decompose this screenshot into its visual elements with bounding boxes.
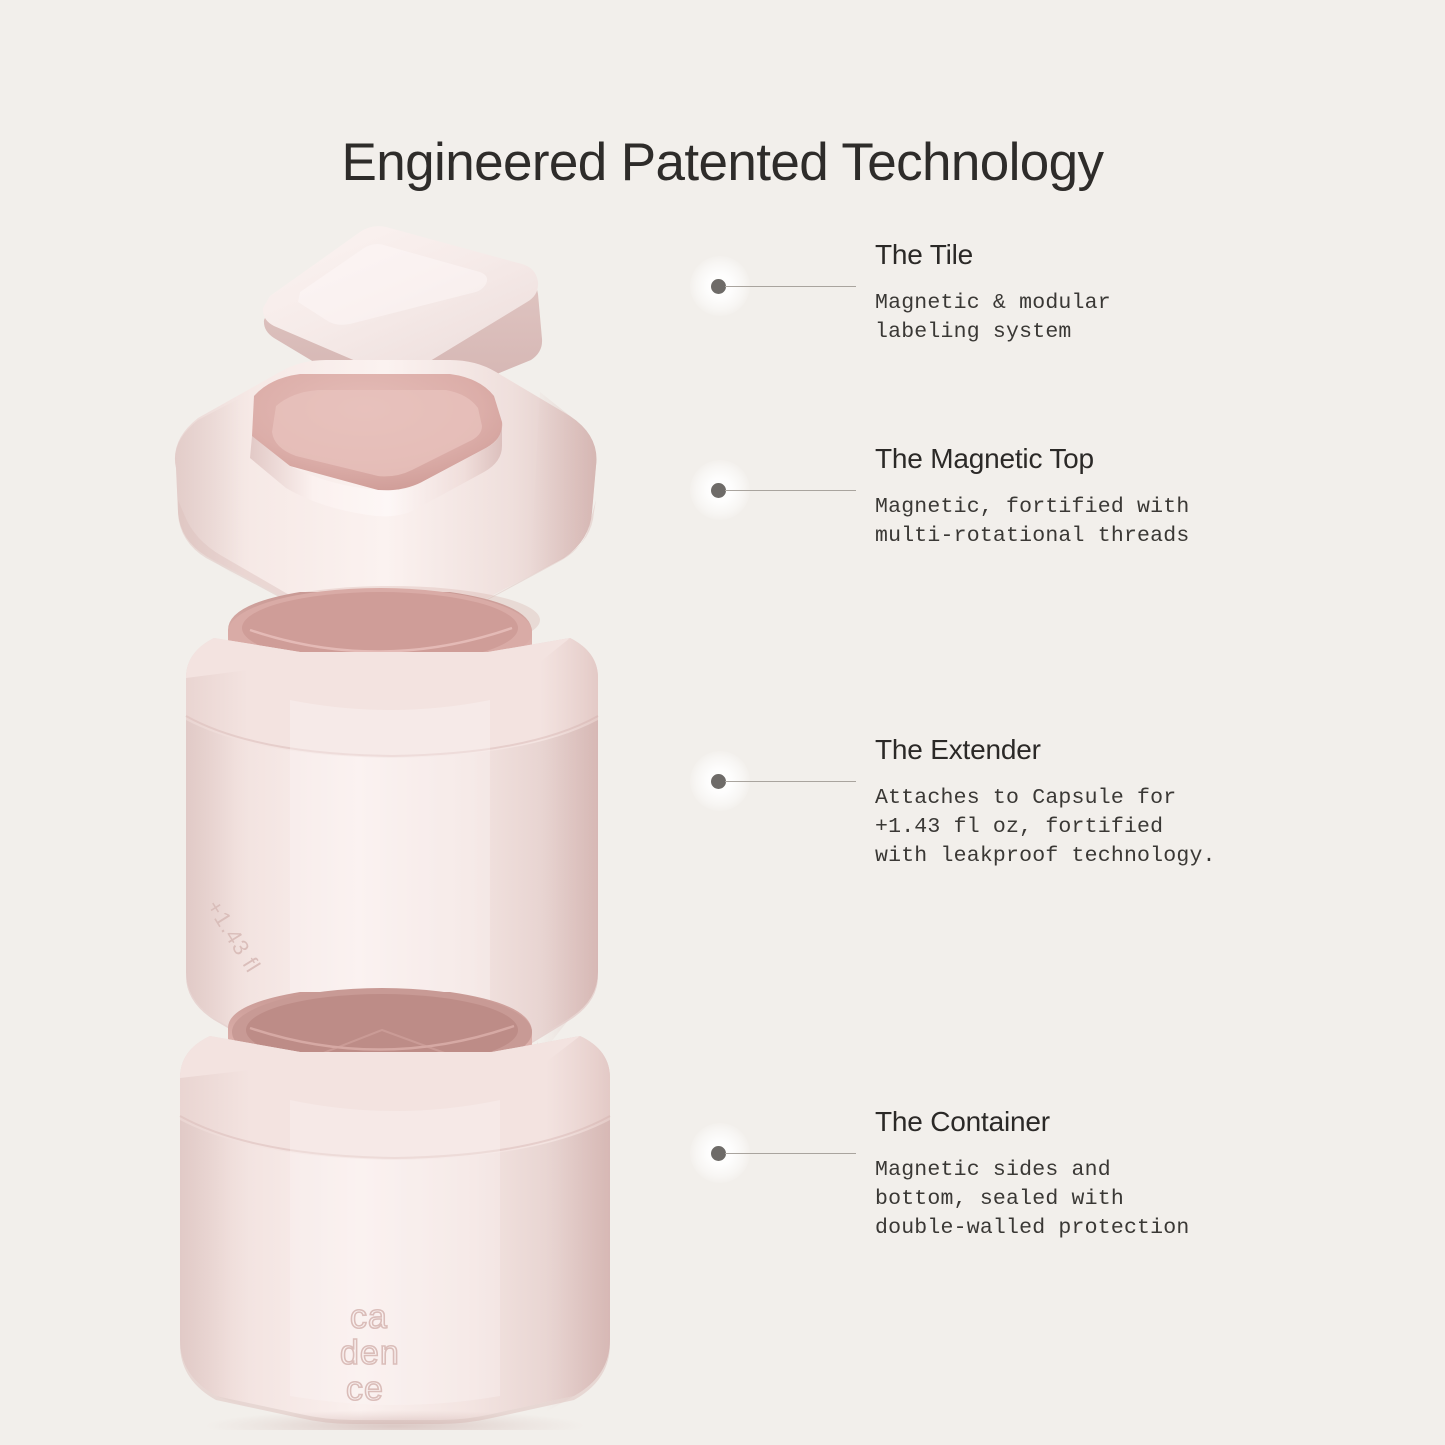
leader-line [725, 1153, 856, 1154]
callout-title: The Extender [875, 732, 1295, 768]
callout-description: Magnetic, fortified with multi-rotationa… [875, 493, 1295, 551]
svg-text:ce: ce [346, 1370, 384, 1408]
callout-title: The Magnetic Top [875, 441, 1295, 477]
callout-title: The Tile [875, 237, 1295, 273]
callout-text: The Container Magnetic sides and bottom,… [875, 1104, 1295, 1243]
page-title: Engineered Patented Technology [0, 132, 1445, 194]
marker-dot-icon [711, 774, 726, 789]
product-illustration: +1.43 fl [150, 200, 690, 1430]
svg-text:den: den [340, 1334, 400, 1372]
callout-title: The Container [875, 1104, 1295, 1140]
callout-marker [690, 460, 865, 520]
callout-description: Attaches to Capsule for +1.43 fl oz, for… [875, 784, 1295, 871]
callout-marker [690, 1123, 865, 1183]
leader-line [725, 490, 856, 491]
callout-text: The Extender Attaches to Capsule for +1.… [875, 732, 1295, 871]
callout-marker [690, 256, 865, 316]
callout-text: The Magnetic Top Magnetic, fortified wit… [875, 441, 1295, 551]
part-magnetic-top [175, 360, 597, 616]
callout-description: Magnetic & modular labeling system [875, 289, 1295, 347]
leader-line [725, 286, 856, 287]
callout-marker [690, 751, 865, 811]
leader-line [725, 781, 856, 782]
infographic-canvas: Engineered Patented Technology [0, 0, 1445, 1445]
callout-text: The Tile Magnetic & modular labeling sys… [875, 237, 1295, 347]
marker-dot-icon [711, 1146, 726, 1161]
callout-description: Magnetic sides and bottom, sealed with d… [875, 1156, 1295, 1243]
marker-dot-icon [711, 279, 726, 294]
part-container: ca den ce [180, 988, 610, 1430]
marker-dot-icon [711, 483, 726, 498]
svg-text:ca: ca [350, 1298, 388, 1336]
